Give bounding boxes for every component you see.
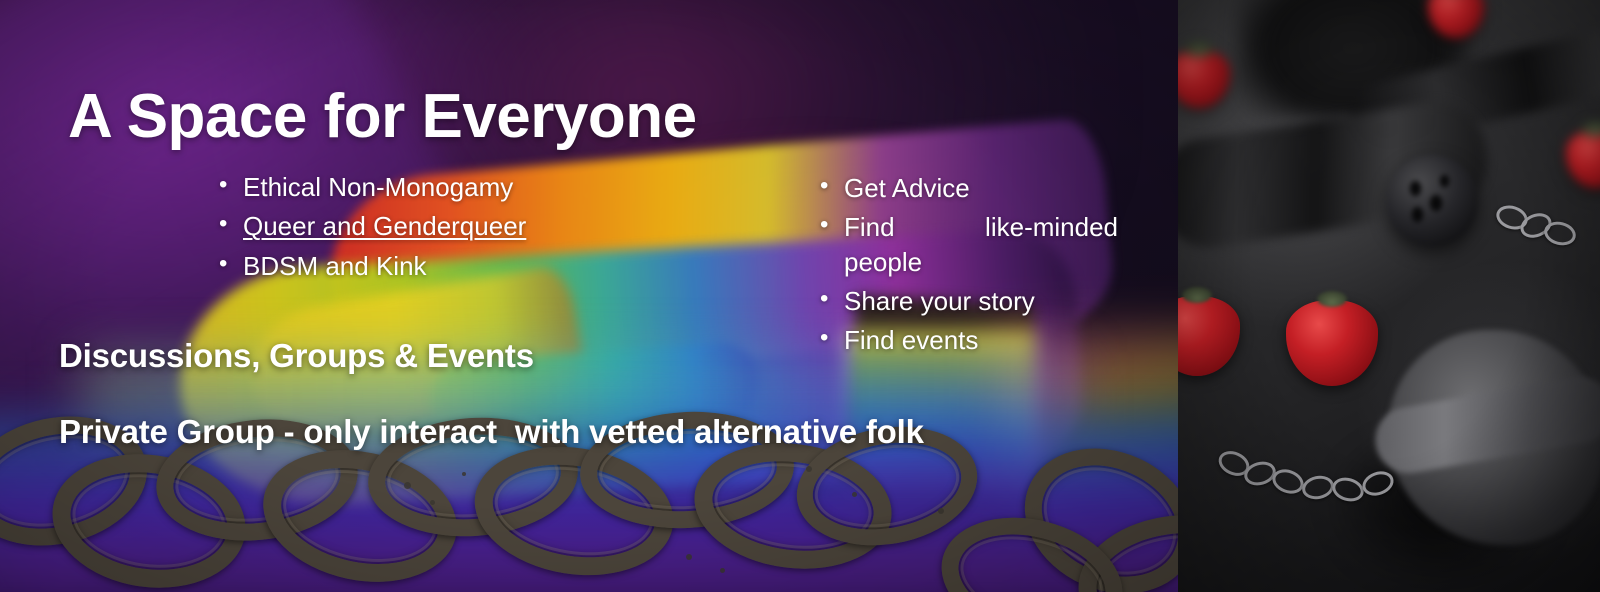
list-item: Find events: [820, 323, 1118, 357]
bullet-label: Get Advice: [844, 173, 970, 203]
bullet-list-benefits: Get Advice Find like-minded people Share…: [820, 171, 1118, 363]
list-item: Get Advice: [820, 171, 1118, 205]
list-item: Share your story: [820, 284, 1118, 318]
promo-banner: A Space for Everyone Ethical Non-Monogam…: [0, 0, 1600, 592]
list-item: Ethical Non-Monogamy: [219, 170, 526, 204]
bullet-list-identities: Ethical Non-Monogamy Queer and Genderque…: [219, 170, 526, 288]
list-item: Queer and Genderqueer: [219, 209, 526, 243]
bullet-label: Share your story: [844, 286, 1035, 316]
bullet-label: BDSM and Kink: [243, 251, 427, 281]
bullet-label: Find events: [844, 325, 978, 355]
bullet-label-spellflagged: Queer and Genderqueer: [243, 211, 526, 241]
page-title: A Space for Everyone: [68, 84, 697, 149]
list-item: Find like-minded people: [820, 210, 1118, 279]
banner-text-layer: A Space for Everyone Ethical Non-Monogam…: [0, 0, 1600, 592]
list-item: BDSM and Kink: [219, 249, 526, 283]
subheading-discussions: Discussions, Groups & Events: [59, 337, 534, 375]
bullet-label-line1: Find like-minded: [844, 210, 1118, 244]
bullet-label: Ethical Non-Monogamy: [243, 172, 513, 202]
bullet-label-line2: people: [844, 245, 1118, 279]
subheading-private-group: Private Group - only interact with vette…: [59, 413, 924, 451]
